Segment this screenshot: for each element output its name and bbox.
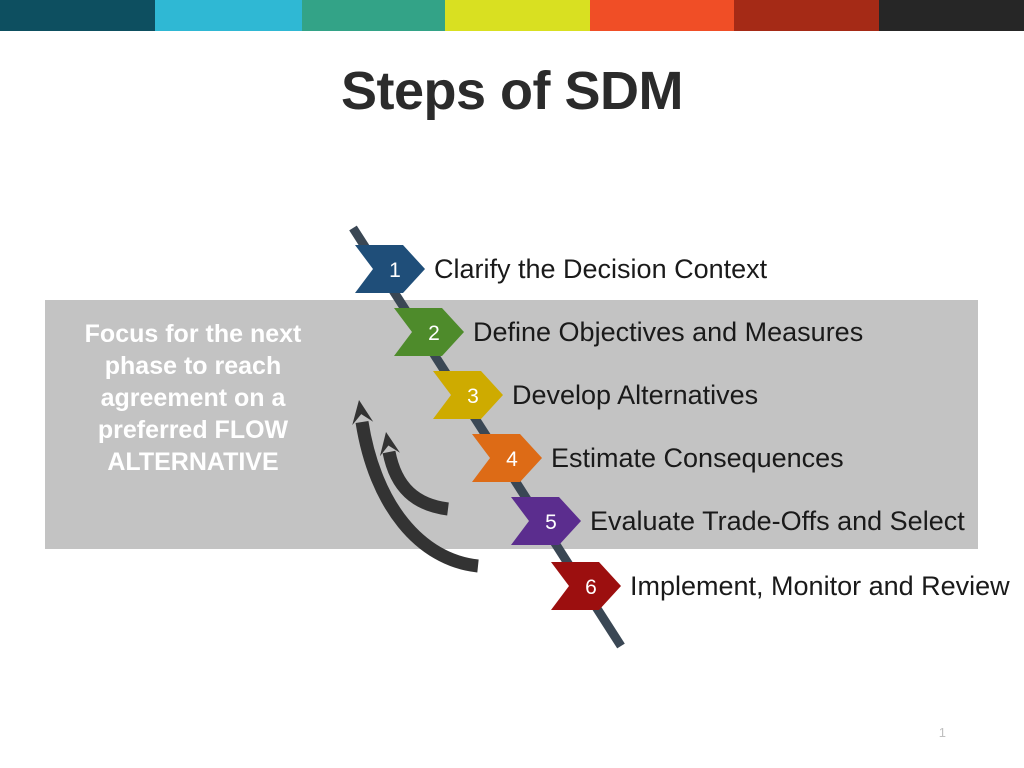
feedback-arrows-layer	[352, 400, 478, 566]
step-label-4[interactable]: Estimate Consequences	[551, 445, 844, 472]
step-label-1[interactable]: Clarify the Decision Context	[434, 256, 767, 283]
step-number-1: 1	[380, 260, 410, 281]
step-number-2: 2	[419, 323, 449, 344]
step-label-2[interactable]: Define Objectives and Measures	[473, 319, 863, 346]
slide-canvas: Steps of SDM Focus for the next phase to…	[0, 0, 1024, 768]
step-number-3: 3	[458, 386, 488, 407]
step-number-4: 4	[497, 449, 527, 470]
feedback-arrow-outer-head	[352, 400, 373, 425]
page-number: 1	[939, 725, 946, 740]
step-number-5: 5	[536, 512, 566, 533]
step-label-3[interactable]: Develop Alternatives	[512, 382, 758, 409]
step-number-6: 6	[576, 577, 606, 598]
feedback-arrow-inner-path	[389, 452, 448, 509]
step-label-5[interactable]: Evaluate Trade-Offs and Select	[590, 508, 965, 535]
step-label-6[interactable]: Implement, Monitor and Review	[630, 573, 1010, 600]
